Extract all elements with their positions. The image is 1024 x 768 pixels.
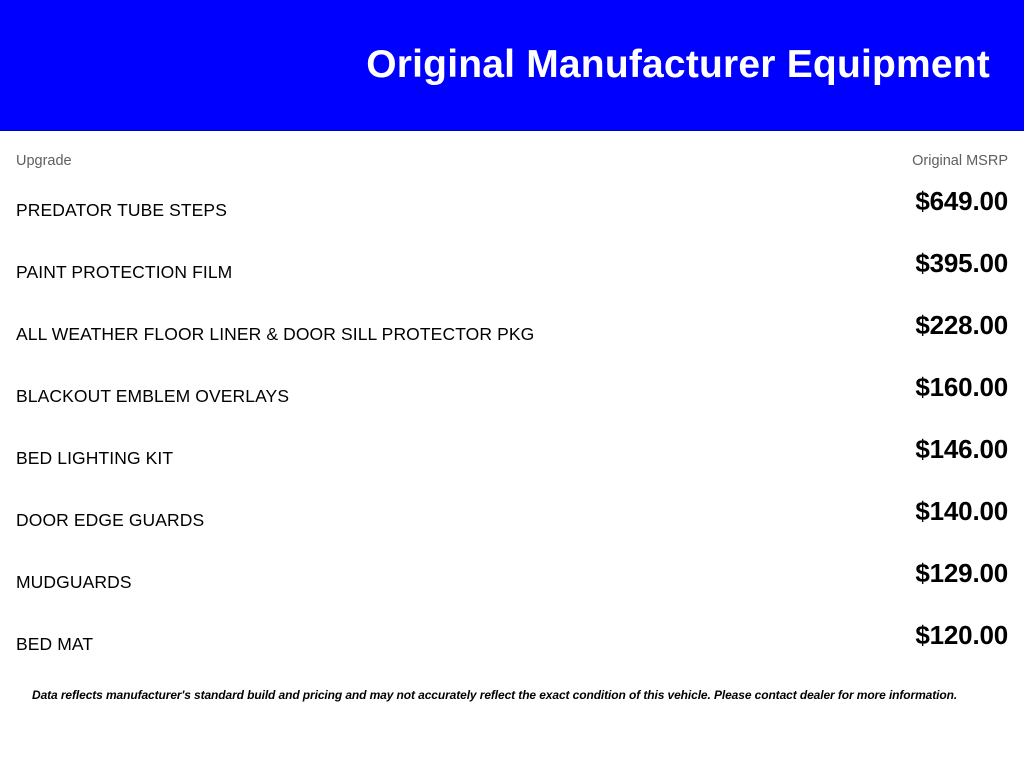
- equipment-table: Upgrade Original MSRP PREDATOR TUBE STEP…: [0, 131, 1024, 768]
- table-row: DOOR EDGE GUARDS $140.00: [16, 487, 1008, 549]
- table-row: BED MAT $120.00: [16, 611, 1008, 673]
- upgrade-name: PREDATOR TUBE STEPS: [16, 187, 227, 222]
- upgrade-price: $129.00: [915, 559, 1008, 587]
- upgrade-price: $120.00: [915, 621, 1008, 649]
- table-row: ALL WEATHER FLOOR LINER & DOOR SILL PROT…: [16, 301, 1008, 363]
- bottom-spacer: [16, 703, 1008, 768]
- column-header-upgrade: Upgrade: [16, 153, 72, 169]
- table-row: MUDGUARDS $129.00: [16, 549, 1008, 611]
- upgrade-name: BLACKOUT EMBLEM OVERLAYS: [16, 373, 289, 408]
- table-row: PREDATOR TUBE STEPS $649.00: [16, 177, 1008, 239]
- table-row: PAINT PROTECTION FILM $395.00: [16, 239, 1008, 301]
- table-column-headers: Upgrade Original MSRP: [16, 131, 1008, 177]
- upgrade-price: $395.00: [915, 249, 1008, 277]
- page-header-banner: Original Manufacturer Equipment: [0, 0, 1024, 131]
- column-header-original-msrp: Original MSRP: [912, 153, 1008, 169]
- upgrade-price: $649.00: [915, 187, 1008, 215]
- table-row: BED LIGHTING KIT $146.00: [16, 425, 1008, 487]
- equipment-page: Original Manufacturer Equipment Upgrade …: [0, 0, 1024, 768]
- upgrade-price: $160.00: [915, 373, 1008, 401]
- page-title: Original Manufacturer Equipment: [366, 44, 1024, 87]
- upgrade-name: PAINT PROTECTION FILM: [16, 249, 232, 284]
- disclaimer: Data reflects manufacturer's standard bu…: [16, 673, 1008, 703]
- upgrade-name: BED LIGHTING KIT: [16, 435, 173, 470]
- table-row: BLACKOUT EMBLEM OVERLAYS $160.00: [16, 363, 1008, 425]
- upgrade-name: DOOR EDGE GUARDS: [16, 497, 204, 532]
- upgrade-price: $140.00: [915, 497, 1008, 525]
- upgrade-name: BED MAT: [16, 621, 93, 656]
- upgrade-name: MUDGUARDS: [16, 559, 132, 594]
- table-rows: PREDATOR TUBE STEPS $649.00 PAINT PROTEC…: [16, 177, 1008, 673]
- upgrade-name: ALL WEATHER FLOOR LINER & DOOR SILL PROT…: [16, 311, 534, 346]
- disclaimer-text: Data reflects manufacturer's standard bu…: [32, 687, 992, 703]
- upgrade-price: $228.00: [915, 311, 1008, 339]
- upgrade-price: $146.00: [915, 435, 1008, 463]
